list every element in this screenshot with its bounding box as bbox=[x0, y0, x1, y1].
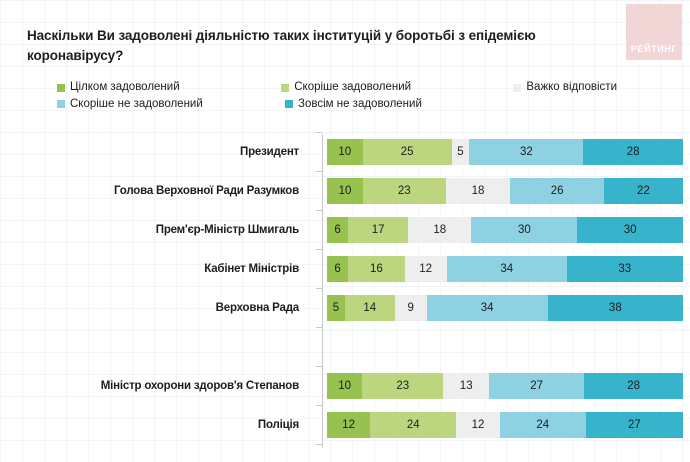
axis-tick bbox=[316, 171, 322, 172]
legend-swatch-icon bbox=[57, 100, 65, 108]
chart-legend: Цілком задоволенийСкоріше задоволенийВаж… bbox=[57, 82, 617, 115]
bar-segment-2[interactable]: 12 bbox=[405, 256, 447, 282]
bar-segment-1[interactable]: 17 bbox=[348, 217, 408, 243]
bar-segment-0[interactable]: 12 bbox=[327, 412, 370, 438]
legend-row: Цілком задоволенийСкоріше задоволенийВаж… bbox=[57, 82, 617, 94]
bar-segment-4[interactable]: 28 bbox=[584, 373, 683, 399]
axis-tick bbox=[316, 405, 322, 406]
bar-segment-3[interactable]: 34 bbox=[427, 295, 548, 321]
bar-segment-4[interactable]: 30 bbox=[577, 217, 683, 243]
bar-segment-2[interactable]: 18 bbox=[408, 217, 471, 243]
legend-row: Скоріше не задоволенийЗовсім не задоволе… bbox=[57, 99, 617, 111]
bar-segment-0[interactable]: 6 bbox=[327, 256, 348, 282]
bar-segment-3[interactable]: 24 bbox=[500, 412, 586, 438]
stacked-bar: 51493438 bbox=[327, 295, 683, 321]
rating-logo: РЕЙТИНГ bbox=[626, 4, 682, 60]
bar-segment-3[interactable]: 27 bbox=[489, 373, 584, 399]
bar-category-label: Голова Верховної Ради Разумков bbox=[0, 185, 310, 197]
bar-segment-0[interactable]: 10 bbox=[327, 178, 363, 204]
stacked-bar: 1224122427 bbox=[327, 412, 683, 438]
legend-label: Цілком задоволений bbox=[70, 82, 180, 94]
bar-category-label: Поліція bbox=[0, 419, 310, 431]
bar-segment-4[interactable]: 38 bbox=[548, 295, 683, 321]
bar-segment-1[interactable]: 23 bbox=[362, 373, 443, 399]
bar-segment-1[interactable]: 16 bbox=[348, 256, 404, 282]
bar-segment-0[interactable]: 6 bbox=[327, 217, 348, 243]
bar-segment-0[interactable]: 10 bbox=[327, 373, 362, 399]
stacked-bar: 1023182622 bbox=[327, 178, 683, 204]
axis-tick bbox=[316, 249, 322, 250]
bar-segment-2[interactable]: 5 bbox=[452, 139, 470, 165]
chart-bar-row: Голова Верховної Ради Разумков1023182622 bbox=[0, 178, 690, 204]
bar-segment-0[interactable]: 10 bbox=[327, 139, 363, 165]
bar-segment-3[interactable]: 26 bbox=[510, 178, 603, 204]
bar-segment-1[interactable]: 24 bbox=[370, 412, 456, 438]
legend-swatch-icon bbox=[285, 100, 293, 108]
legend-label: Скоріше не задоволений bbox=[70, 99, 203, 111]
legend-swatch-icon bbox=[57, 84, 65, 92]
bar-segment-2[interactable]: 13 bbox=[443, 373, 489, 399]
legend-item-4[interactable]: Зовсім не задоволений bbox=[285, 99, 422, 111]
chart-bar-row: Верховна Рада51493438 bbox=[0, 295, 690, 321]
axis-tick bbox=[316, 366, 322, 367]
chart-bar-row: Прем'єр-Міністр Шмигаль617183030 bbox=[0, 217, 690, 243]
axis-tick bbox=[316, 210, 322, 211]
stacked-bar: 617183030 bbox=[327, 217, 683, 243]
chart-plot-area: Президент102553228Голова Верховної Ради … bbox=[0, 128, 690, 458]
bar-category-label: Прем'єр-Міністр Шмигаль bbox=[0, 224, 310, 236]
legend-item-3[interactable]: Скоріше не задоволений bbox=[57, 99, 285, 111]
legend-item-1[interactable]: Скоріше задоволений bbox=[281, 82, 513, 94]
bar-segment-0[interactable]: 5 bbox=[327, 295, 345, 321]
stacked-bar: 616123433 bbox=[327, 256, 683, 282]
bar-segment-4[interactable]: 28 bbox=[583, 139, 683, 165]
legend-item-2[interactable]: Важко відповісти bbox=[513, 82, 617, 94]
bar-segment-2[interactable]: 12 bbox=[456, 412, 499, 438]
bar-segment-1[interactable]: 23 bbox=[363, 178, 446, 204]
axis-tick bbox=[316, 444, 322, 445]
bar-segment-4[interactable]: 33 bbox=[567, 256, 683, 282]
bar-category-label: Президент bbox=[0, 146, 310, 158]
legend-swatch-icon bbox=[513, 84, 521, 92]
stacked-bar: 1023132728 bbox=[327, 373, 683, 399]
bar-segment-3[interactable]: 34 bbox=[447, 256, 567, 282]
bar-segment-3[interactable]: 30 bbox=[471, 217, 577, 243]
bar-segment-2[interactable]: 18 bbox=[446, 178, 511, 204]
chart-bar-row: Президент102553228 bbox=[0, 139, 690, 165]
axis-tick bbox=[316, 288, 322, 289]
legend-item-0[interactable]: Цілком задоволений bbox=[57, 82, 281, 94]
bar-segment-1[interactable]: 25 bbox=[363, 139, 452, 165]
bar-segment-2[interactable]: 9 bbox=[395, 295, 427, 321]
axis-tick bbox=[316, 132, 322, 133]
chart-bar-row: Поліція1224122427 bbox=[0, 412, 690, 438]
rating-logo-text: РЕЙТИНГ bbox=[631, 44, 677, 54]
page-title: Наскільки Ви задоволені діяльністю таких… bbox=[27, 26, 567, 65]
bar-category-label: Міністр охорони здоров'я Степанов bbox=[0, 380, 310, 392]
legend-label: Скоріше задоволений bbox=[294, 82, 411, 94]
bar-category-label: Кабінет Міністрів bbox=[0, 263, 310, 275]
legend-label: Важко відповісти bbox=[526, 82, 617, 94]
stacked-bar: 102553228 bbox=[327, 139, 683, 165]
bar-category-label: Верховна Рада bbox=[0, 302, 310, 314]
bar-segment-4[interactable]: 22 bbox=[604, 178, 683, 204]
bar-segment-4[interactable]: 27 bbox=[586, 412, 683, 438]
chart-bar-row: Кабінет Міністрів616123433 bbox=[0, 256, 690, 282]
axis-tick bbox=[316, 327, 322, 328]
legend-swatch-icon bbox=[281, 84, 289, 92]
bar-segment-3[interactable]: 32 bbox=[469, 139, 583, 165]
bar-segment-1[interactable]: 14 bbox=[345, 295, 395, 321]
chart-sheet: РЕЙТИНГ Наскільки Ви задоволені діяльніс… bbox=[0, 0, 690, 462]
legend-label: Зовсім не задоволений bbox=[298, 99, 422, 111]
chart-bar-row: Міністр охорони здоров'я Степанов1023132… bbox=[0, 373, 690, 399]
